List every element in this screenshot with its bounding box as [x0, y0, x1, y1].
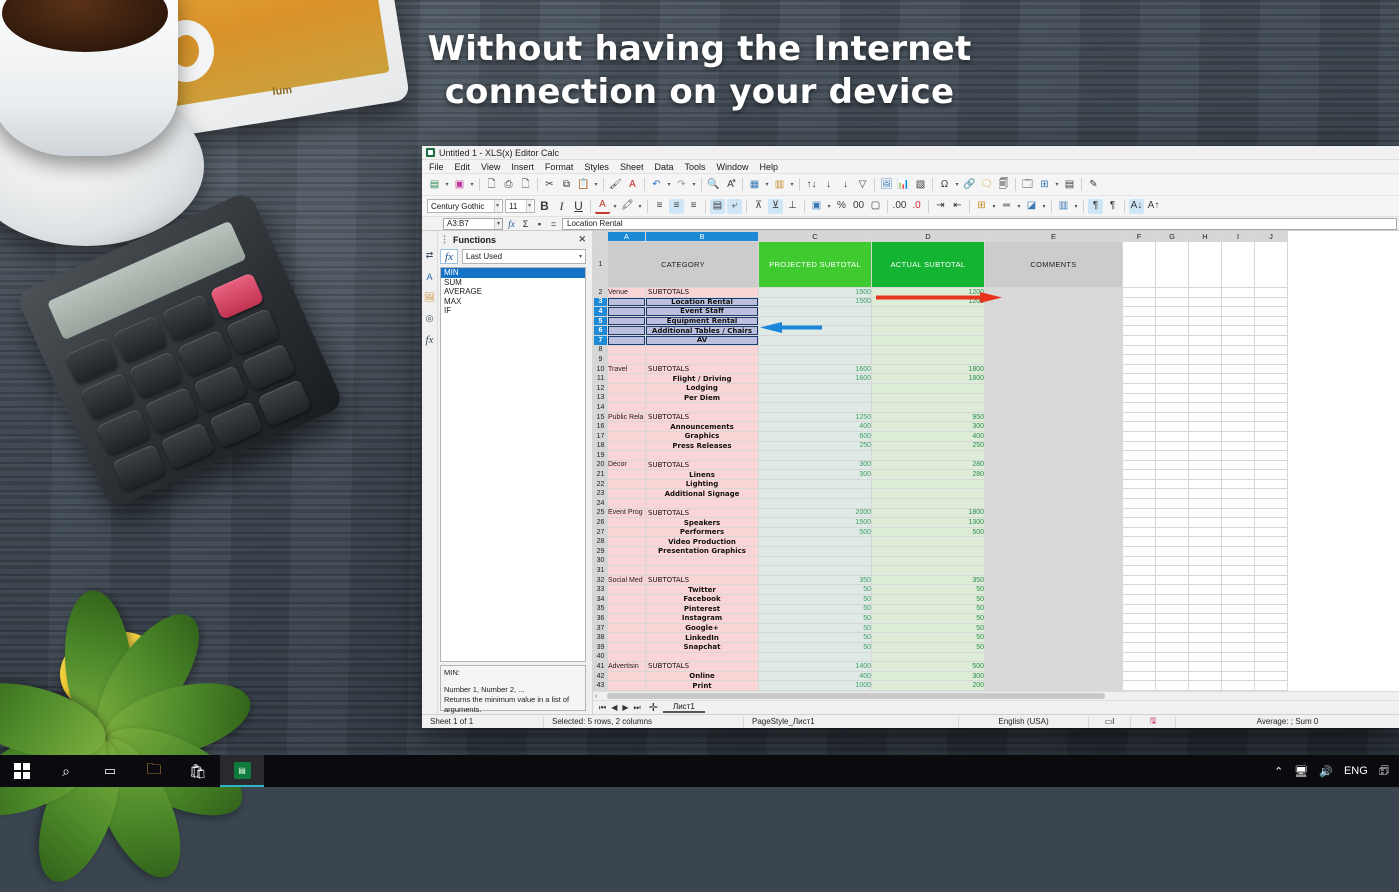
cell-projected-3[interactable]: 1500: [759, 297, 872, 307]
cell-empty-3-0[interactable]: [1123, 297, 1156, 307]
cell-empty-20-4[interactable]: [1255, 460, 1288, 470]
cell-projected-10[interactable]: 1600: [759, 364, 872, 374]
horizontal-scrollbar[interactable]: ‹: [593, 691, 1399, 700]
new-icon[interactable]: ▤: [427, 177, 442, 192]
cell-actual-41[interactable]: 500: [872, 662, 985, 672]
cell-comments-44[interactable]: [985, 690, 1123, 691]
equals-icon[interactable]: =: [548, 219, 559, 229]
row-header-20[interactable]: 20: [594, 460, 608, 470]
special-character-icon[interactable]: Ω: [937, 177, 952, 192]
cell-empty-16-1[interactable]: [1156, 422, 1189, 432]
cell-empty-41-1[interactable]: [1156, 662, 1189, 672]
column-icon[interactable]: ▥: [772, 177, 787, 192]
cell-empty-41-2[interactable]: [1189, 662, 1222, 672]
cell-projected-35[interactable]: 50: [759, 604, 872, 614]
cell-group-24[interactable]: [608, 499, 646, 509]
paste-icon[interactable]: 📋: [576, 177, 591, 192]
cell-actual-34[interactable]: 50: [872, 595, 985, 605]
fx-icon[interactable]: fx: [440, 249, 458, 264]
cell-projected-12[interactable]: [759, 383, 872, 393]
cell-comments-40[interactable]: [985, 652, 1123, 662]
cell-empty-23-0[interactable]: [1123, 489, 1156, 499]
cell-label-39[interactable]: Snapchat: [646, 642, 759, 652]
column-header-c[interactable]: C: [759, 232, 872, 242]
pivot-table-icon[interactable]: ▧: [913, 177, 928, 192]
cell-empty-9-0[interactable]: [1123, 355, 1156, 365]
cell-empty-18-0[interactable]: [1123, 441, 1156, 451]
align-top-icon[interactable]: ⊼: [751, 199, 766, 214]
row-header-34[interactable]: 34: [594, 595, 608, 605]
find-replace-icon[interactable]: 🔍: [706, 177, 721, 192]
cell-label-43[interactable]: Print: [646, 681, 759, 691]
cell-empty-13-2[interactable]: [1189, 393, 1222, 403]
cell-empty-39-0[interactable]: [1123, 642, 1156, 652]
cell-empty-26-0[interactable]: [1123, 518, 1156, 528]
cell-comments-36[interactable]: [985, 614, 1123, 624]
cell-comments-15[interactable]: [985, 412, 1123, 422]
freeze-rows-icon[interactable]: 🗔: [1020, 177, 1035, 192]
save-dropdown-icon[interactable]: ▾: [469, 181, 475, 188]
cell-empty-38-1[interactable]: [1156, 633, 1189, 643]
cell-projected-2[interactable]: 1500: [759, 288, 872, 298]
cell-empty-7-1[interactable]: [1156, 335, 1189, 345]
cell-empty-24-4[interactable]: [1255, 499, 1288, 509]
column-header-j[interactable]: J: [1255, 232, 1288, 242]
cell-empty-23-3[interactable]: [1222, 489, 1255, 499]
sidebar-rail[interactable]: ⇄ A 🖼 ◎ fx: [422, 231, 438, 714]
font-color-dropdown-icon[interactable]: ▾: [612, 203, 618, 210]
cell-label-19[interactable]: [646, 451, 759, 461]
cell-comments-13[interactable]: [985, 393, 1123, 403]
cell-comments-28[interactable]: [985, 537, 1123, 547]
cell-group-4[interactable]: [608, 307, 646, 317]
row-header-9[interactable]: 9: [594, 355, 608, 365]
cell-empty-30-4[interactable]: [1255, 556, 1288, 566]
start-icon[interactable]: [0, 755, 44, 787]
align-center-icon[interactable]: ≡: [669, 199, 684, 214]
cell-empty-18-4[interactable]: [1255, 441, 1288, 451]
cell-group-33[interactable]: [608, 585, 646, 595]
table-row[interactable]: 18Press Releases250250: [594, 441, 1288, 451]
cell-empty-22-0[interactable]: [1123, 479, 1156, 489]
date-icon[interactable]: ▢: [868, 199, 883, 214]
cell-empty-25-0[interactable]: [1123, 508, 1156, 518]
cell-actual-33[interactable]: 50: [872, 585, 985, 595]
undo-dropdown-icon[interactable]: ▾: [666, 181, 672, 188]
cell-group-36[interactable]: [608, 614, 646, 624]
spelling-icon[interactable]: A⃰: [723, 177, 738, 192]
cell-empty-22-2[interactable]: [1189, 479, 1222, 489]
column-header-b[interactable]: B: [646, 232, 759, 242]
cell-empty-28-0[interactable]: [1123, 537, 1156, 547]
cell-actual-18[interactable]: 250: [872, 441, 985, 451]
row-header-26[interactable]: 26: [594, 518, 608, 528]
scroll-left-icon[interactable]: ‹: [595, 693, 597, 700]
cell-label-10[interactable]: SUBTOTALS: [646, 364, 759, 374]
cell-empty-9-4[interactable]: [1255, 355, 1288, 365]
cell-comments-23[interactable]: [985, 489, 1123, 499]
cell-label-44[interactable]: Outdoor: [646, 690, 759, 691]
cell-label-3[interactable]: Location Rental: [646, 297, 759, 307]
cell-projected-26[interactable]: 1500: [759, 518, 872, 528]
cell-empty-6-1[interactable]: [1156, 326, 1189, 336]
table-row[interactable]: 17Graphics600400: [594, 431, 1288, 441]
cell-empty-11-3[interactable]: [1222, 374, 1255, 384]
cell-empty-19-4[interactable]: [1255, 451, 1288, 461]
cell-comments-32[interactable]: [985, 575, 1123, 585]
sort-ascending-icon[interactable]: ↓: [821, 177, 836, 192]
border-color-icon[interactable]: ◪: [1024, 199, 1039, 214]
cell-group-8[interactable]: [608, 345, 646, 355]
row-header-23[interactable]: 23: [594, 489, 608, 499]
cell-label-27[interactable]: Performers: [646, 527, 759, 537]
cell-actual-44[interactable]: [872, 690, 985, 691]
cell-empty-17-1[interactable]: [1156, 431, 1189, 441]
cell-label-41[interactable]: SUBTOTALS: [646, 662, 759, 672]
cell-empty-43-4[interactable]: [1255, 681, 1288, 691]
font-color-icon[interactable]: A: [595, 199, 610, 214]
row-header-19[interactable]: 19: [594, 451, 608, 461]
table-row[interactable]: 36Instagram5050: [594, 614, 1288, 624]
menu-insert[interactable]: Insert: [511, 162, 534, 172]
cell-empty-10-3[interactable]: [1222, 364, 1255, 374]
border-color-dropdown-icon[interactable]: ▾: [1041, 203, 1047, 210]
cell-empty-41-3[interactable]: [1222, 662, 1255, 672]
cell-label-32[interactable]: SUBTOTALS: [646, 575, 759, 585]
cell-label-20[interactable]: SUBTOTALS: [646, 460, 759, 470]
sidebar-settings-icon[interactable]: ⇄: [423, 249, 436, 262]
cell-projected-14[interactable]: [759, 403, 872, 413]
function-list[interactable]: MIN SUM AVERAGE MAX IF: [440, 267, 586, 662]
sum-icon[interactable]: Σ: [520, 219, 531, 229]
cell-empty-23-2[interactable]: [1189, 489, 1222, 499]
cell-label-23[interactable]: Additional Signage: [646, 489, 759, 499]
cell-comments-31[interactable]: [985, 566, 1123, 576]
cell-comments-8[interactable]: [985, 345, 1123, 355]
cell-empty-2-2[interactable]: [1189, 288, 1222, 298]
cell-empty-18-1[interactable]: [1156, 441, 1189, 451]
file-explorer-icon[interactable]: 🗀: [132, 755, 176, 787]
cell-comments-6[interactable]: [985, 326, 1123, 336]
cell-actual-25[interactable]: 1800: [872, 508, 985, 518]
cell-empty-5-2[interactable]: [1189, 316, 1222, 326]
font-name-combo[interactable]: Century Gothic ▾: [427, 199, 503, 213]
table-row[interactable]: 25Event ProgSUBTOTALS20001800: [594, 508, 1288, 518]
cell-empty-41-4[interactable]: [1255, 662, 1288, 672]
cell-empty-15-1[interactable]: [1156, 412, 1189, 422]
show-draw-functions-icon[interactable]: ✎: [1086, 177, 1101, 192]
cell-projected-38[interactable]: 50: [759, 633, 872, 643]
cell-empty-36-2[interactable]: [1189, 614, 1222, 624]
table-row[interactable]: 34Facebook5050: [594, 595, 1288, 605]
next-sheet-icon[interactable]: ▶: [622, 703, 628, 712]
cell-group-30[interactable]: [608, 556, 646, 566]
cell-group-17[interactable]: [608, 431, 646, 441]
cell-empty-27-3[interactable]: [1222, 527, 1255, 537]
cell-label-37[interactable]: Google+: [646, 623, 759, 633]
cell-label-11[interactable]: Flight / Driving: [646, 374, 759, 384]
merge-cells-icon[interactable]: ▣: [809, 199, 824, 214]
cell-empty-44-3[interactable]: [1222, 690, 1255, 691]
cell-empty-32-2[interactable]: [1189, 575, 1222, 585]
cell-empty-5-0[interactable]: [1123, 316, 1156, 326]
cell-empty-37-0[interactable]: [1123, 623, 1156, 633]
cell-empty-33-2[interactable]: [1189, 585, 1222, 595]
cell-empty-2-0[interactable]: [1123, 288, 1156, 298]
cell-projected-4[interactable]: [759, 307, 872, 317]
cell-empty-19-0[interactable]: [1123, 451, 1156, 461]
left-to-right-icon[interactable]: ¶: [1088, 199, 1103, 214]
cell-comments-25[interactable]: [985, 508, 1123, 518]
cell-empty-5-4[interactable]: [1255, 316, 1288, 326]
cell-empty-31-4[interactable]: [1255, 566, 1288, 576]
cell-empty-39-1[interactable]: [1156, 642, 1189, 652]
cell-actual-header[interactable]: ACTUAL SUBTOTAL: [872, 242, 985, 288]
row-header-38[interactable]: 38: [594, 633, 608, 643]
table-row[interactable]: 8: [594, 345, 1288, 355]
chart-icon[interactable]: 📊: [896, 177, 911, 192]
sort-icon[interactable]: ↑↓: [804, 177, 819, 192]
cell-actual-24[interactable]: [872, 499, 985, 509]
cell-empty-4-1[interactable]: [1156, 307, 1189, 317]
cell-actual-9[interactable]: [872, 355, 985, 365]
cell-comments-7[interactable]: [985, 335, 1123, 345]
currency-icon[interactable]: 00: [851, 199, 866, 214]
cell-empty-37-2[interactable]: [1189, 623, 1222, 633]
cell-empty-12-2[interactable]: [1189, 383, 1222, 393]
cell-group-27[interactable]: [608, 527, 646, 537]
cell-projected-23[interactable]: [759, 489, 872, 499]
cell-empty-8-4[interactable]: [1255, 345, 1288, 355]
indent-decrease-icon[interactable]: ⇤: [950, 199, 965, 214]
menu-window[interactable]: Window: [717, 162, 749, 172]
table-row[interactable]: 19: [594, 451, 1288, 461]
cell-label-2[interactable]: SUBTOTALS: [646, 288, 759, 298]
cell-empty-40-1[interactable]: [1156, 652, 1189, 662]
cell-projected-32[interactable]: 350: [759, 575, 872, 585]
cell-empty-16-4[interactable]: [1255, 422, 1288, 432]
menu-styles[interactable]: Styles: [584, 162, 609, 172]
cell-empty-22-1[interactable]: [1156, 479, 1189, 489]
table-row[interactable]: 21Linens300280: [594, 470, 1288, 480]
cell-projected-7[interactable]: [759, 335, 872, 345]
cell-empty-6-0[interactable]: [1123, 326, 1156, 336]
cell-empty-7-2[interactable]: [1189, 335, 1222, 345]
column-header-g[interactable]: G: [1156, 232, 1189, 242]
cell-comments-header[interactable]: COMMENTS: [985, 242, 1123, 288]
row-header-14[interactable]: 14: [594, 403, 608, 413]
cell-group-35[interactable]: [608, 604, 646, 614]
cell-projected-33[interactable]: 50: [759, 585, 872, 595]
cell-group-10[interactable]: Travel: [608, 364, 646, 374]
cell-label-38[interactable]: LinkedIn: [646, 633, 759, 643]
cell-empty-3-2[interactable]: [1189, 297, 1222, 307]
formula-bar[interactable]: A3:B7 ▾ fx Σ ▪ = Location Rental: [422, 217, 1399, 231]
column-header-h[interactable]: H: [1189, 232, 1222, 242]
cell-empty-33-3[interactable]: [1222, 585, 1255, 595]
cell-label-24[interactable]: [646, 499, 759, 509]
cell-label-42[interactable]: Online: [646, 671, 759, 681]
cell-empty-40-4[interactable]: [1255, 652, 1288, 662]
cell-actual-11[interactable]: 1800: [872, 374, 985, 384]
cell-empty-3-3[interactable]: [1222, 297, 1255, 307]
cell-empty-30-2[interactable]: [1189, 556, 1222, 566]
table-row[interactable]: 7AV: [594, 335, 1288, 345]
cell-empty-29-2[interactable]: [1189, 547, 1222, 557]
menu-data[interactable]: Data: [654, 162, 673, 172]
cell-label-21[interactable]: Linens: [646, 470, 759, 480]
cell-group-18[interactable]: [608, 441, 646, 451]
table-row[interactable]: 20DécorSUBTOTALS300280: [594, 460, 1288, 470]
row-header-7[interactable]: 7: [594, 335, 608, 345]
search-icon[interactable]: ⌕: [44, 755, 88, 787]
cell-empty-7-3[interactable]: [1222, 335, 1255, 345]
column-header-d[interactable]: D: [872, 232, 985, 242]
previous-sheet-icon[interactable]: ◀: [611, 703, 617, 712]
cell-empty-21-4[interactable]: [1255, 470, 1288, 480]
cell-group-19[interactable]: [608, 451, 646, 461]
table-row[interactable]: 33Twitter5050: [594, 585, 1288, 595]
cell-projected-21[interactable]: 300: [759, 470, 872, 480]
volume-icon[interactable]: 🔊: [1319, 765, 1333, 778]
row-header-40[interactable]: 40: [594, 652, 608, 662]
cell-projected-22[interactable]: [759, 479, 872, 489]
cell-projected-40[interactable]: [759, 652, 872, 662]
language-indicator[interactable]: ENG: [1344, 765, 1368, 777]
table-row[interactable]: 41AdvertisinSUBTOTALS1400500: [594, 662, 1288, 672]
cell-group-28[interactable]: [608, 537, 646, 547]
cell-empty-37-3[interactable]: [1222, 623, 1255, 633]
add-sheet-icon[interactable]: ✛: [649, 701, 658, 714]
row-dropdown-icon[interactable]: ▾: [764, 181, 770, 188]
row-header-37[interactable]: 37: [594, 623, 608, 633]
function-list-item-average[interactable]: AVERAGE: [441, 287, 585, 297]
cell-projected-39[interactable]: 50: [759, 642, 872, 652]
cell-empty-21-3[interactable]: [1222, 470, 1255, 480]
cell-empty-14-3[interactable]: [1222, 403, 1255, 413]
cell-actual-35[interactable]: 50: [872, 604, 985, 614]
cell-actual-40[interactable]: [872, 652, 985, 662]
cell-empty-42-2[interactable]: [1189, 671, 1222, 681]
select-all-corner[interactable]: [594, 232, 608, 242]
cell-empty-9-3[interactable]: [1222, 355, 1255, 365]
table-row[interactable]: 27Performers500500: [594, 527, 1288, 537]
cell-empty-38-3[interactable]: [1222, 633, 1255, 643]
cell-empty-4-4[interactable]: [1255, 307, 1288, 317]
cell-projected-20[interactable]: 300: [759, 460, 872, 470]
row-header-11[interactable]: 11: [594, 374, 608, 384]
cell-empty-7-0[interactable]: [1123, 335, 1156, 345]
cell-empty-31-0[interactable]: [1123, 566, 1156, 576]
row-header-10[interactable]: 10: [594, 364, 608, 374]
cell-empty-13-0[interactable]: [1123, 393, 1156, 403]
cell-empty-18-2[interactable]: [1189, 441, 1222, 451]
cell-empty-39-4[interactable]: [1255, 642, 1288, 652]
cell-empty-25-2[interactable]: [1189, 508, 1222, 518]
row-header-27[interactable]: 27: [594, 527, 608, 537]
table-row[interactable]: 5Equipment Rental: [594, 316, 1288, 326]
cell-empty-28-1[interactable]: [1156, 537, 1189, 547]
cell-actual-38[interactable]: 50: [872, 633, 985, 643]
chevron-down-icon[interactable]: ▾: [576, 253, 585, 260]
scrollbar-thumb[interactable]: [607, 693, 1104, 699]
cell-label-34[interactable]: Facebook: [646, 595, 759, 605]
cell-actual-39[interactable]: 50: [872, 642, 985, 652]
new-dropdown-icon[interactable]: ▾: [444, 181, 450, 188]
cell-empty-7-4[interactable]: [1255, 335, 1288, 345]
cell-empty-35-2[interactable]: [1189, 604, 1222, 614]
redo-icon[interactable]: ↷: [674, 177, 689, 192]
cell-empty-16-0[interactable]: [1123, 422, 1156, 432]
borders-icon[interactable]: ⊞: [974, 199, 989, 214]
export-pdf-icon[interactable]: 🗋: [484, 177, 499, 192]
cell-label-22[interactable]: Lighting: [646, 479, 759, 489]
cell-label-12[interactable]: Lodging: [646, 383, 759, 393]
cell-empty-11-1[interactable]: [1156, 374, 1189, 384]
cell-comments-42[interactable]: [985, 671, 1123, 681]
cell-label-8[interactable]: [646, 345, 759, 355]
cell-actual-8[interactable]: [872, 345, 985, 355]
cell-empty-35-1[interactable]: [1156, 604, 1189, 614]
cell-group-29[interactable]: [608, 547, 646, 557]
cell-empty-27-1[interactable]: [1156, 527, 1189, 537]
cell-group-44[interactable]: [608, 690, 646, 691]
cell-empty-4-2[interactable]: [1189, 307, 1222, 317]
cell-projected-18[interactable]: 250: [759, 441, 872, 451]
name-box[interactable]: A3:B7 ▾: [443, 218, 503, 230]
cell-comments-5[interactable]: [985, 316, 1123, 326]
row-header-28[interactable]: 28: [594, 537, 608, 547]
cell-empty-4-0[interactable]: [1123, 307, 1156, 317]
cell-comments-21[interactable]: [985, 470, 1123, 480]
cell-empty-2-3[interactable]: [1222, 288, 1255, 298]
cell-empty-12-1[interactable]: [1156, 383, 1189, 393]
cell-empty-19-1[interactable]: [1156, 451, 1189, 461]
menu-help[interactable]: Help: [760, 162, 779, 172]
cell-actual-37[interactable]: 50: [872, 623, 985, 633]
cell-empty-30-0[interactable]: [1123, 556, 1156, 566]
row-header-44[interactable]: 44: [594, 690, 608, 691]
row-header-22[interactable]: 22: [594, 479, 608, 489]
cell-empty-24-3[interactable]: [1222, 499, 1255, 509]
cell-comments-19[interactable]: [985, 451, 1123, 461]
cell-group-43[interactable]: [608, 681, 646, 691]
cell-empty-32-1[interactable]: [1156, 575, 1189, 585]
cell-comments-4[interactable]: [985, 307, 1123, 317]
cell-group-34[interactable]: [608, 595, 646, 605]
table-row[interactable]: 6Additional Tables / Chairs: [594, 326, 1288, 336]
menu-edit[interactable]: Edit: [455, 162, 471, 172]
cell-empty-2-4[interactable]: [1255, 288, 1288, 298]
cell-empty-23-1[interactable]: [1156, 489, 1189, 499]
underline-button[interactable]: U: [571, 199, 586, 214]
cell-group-16[interactable]: [608, 422, 646, 432]
cell-actual-7[interactable]: [872, 335, 985, 345]
cell-label-4[interactable]: Event Staff: [646, 307, 759, 317]
cell-empty-10-4[interactable]: [1255, 364, 1288, 374]
table-row[interactable]: 22Lighting: [594, 479, 1288, 489]
right-to-left-icon[interactable]: ¶: [1105, 199, 1120, 214]
clear-formatting-icon[interactable]: A: [625, 177, 640, 192]
cell-empty-19-3[interactable]: [1222, 451, 1255, 461]
cell-empty-29-0[interactable]: [1123, 547, 1156, 557]
fx-icon[interactable]: fx: [506, 219, 517, 229]
cell-label-31[interactable]: [646, 566, 759, 576]
cell-empty-35-3[interactable]: [1222, 604, 1255, 614]
document-modified-icon[interactable]: 🖫: [1131, 716, 1176, 728]
cell-label-40[interactable]: [646, 652, 759, 662]
table-row[interactable]: 10TravelSUBTOTALS16001800: [594, 364, 1288, 374]
